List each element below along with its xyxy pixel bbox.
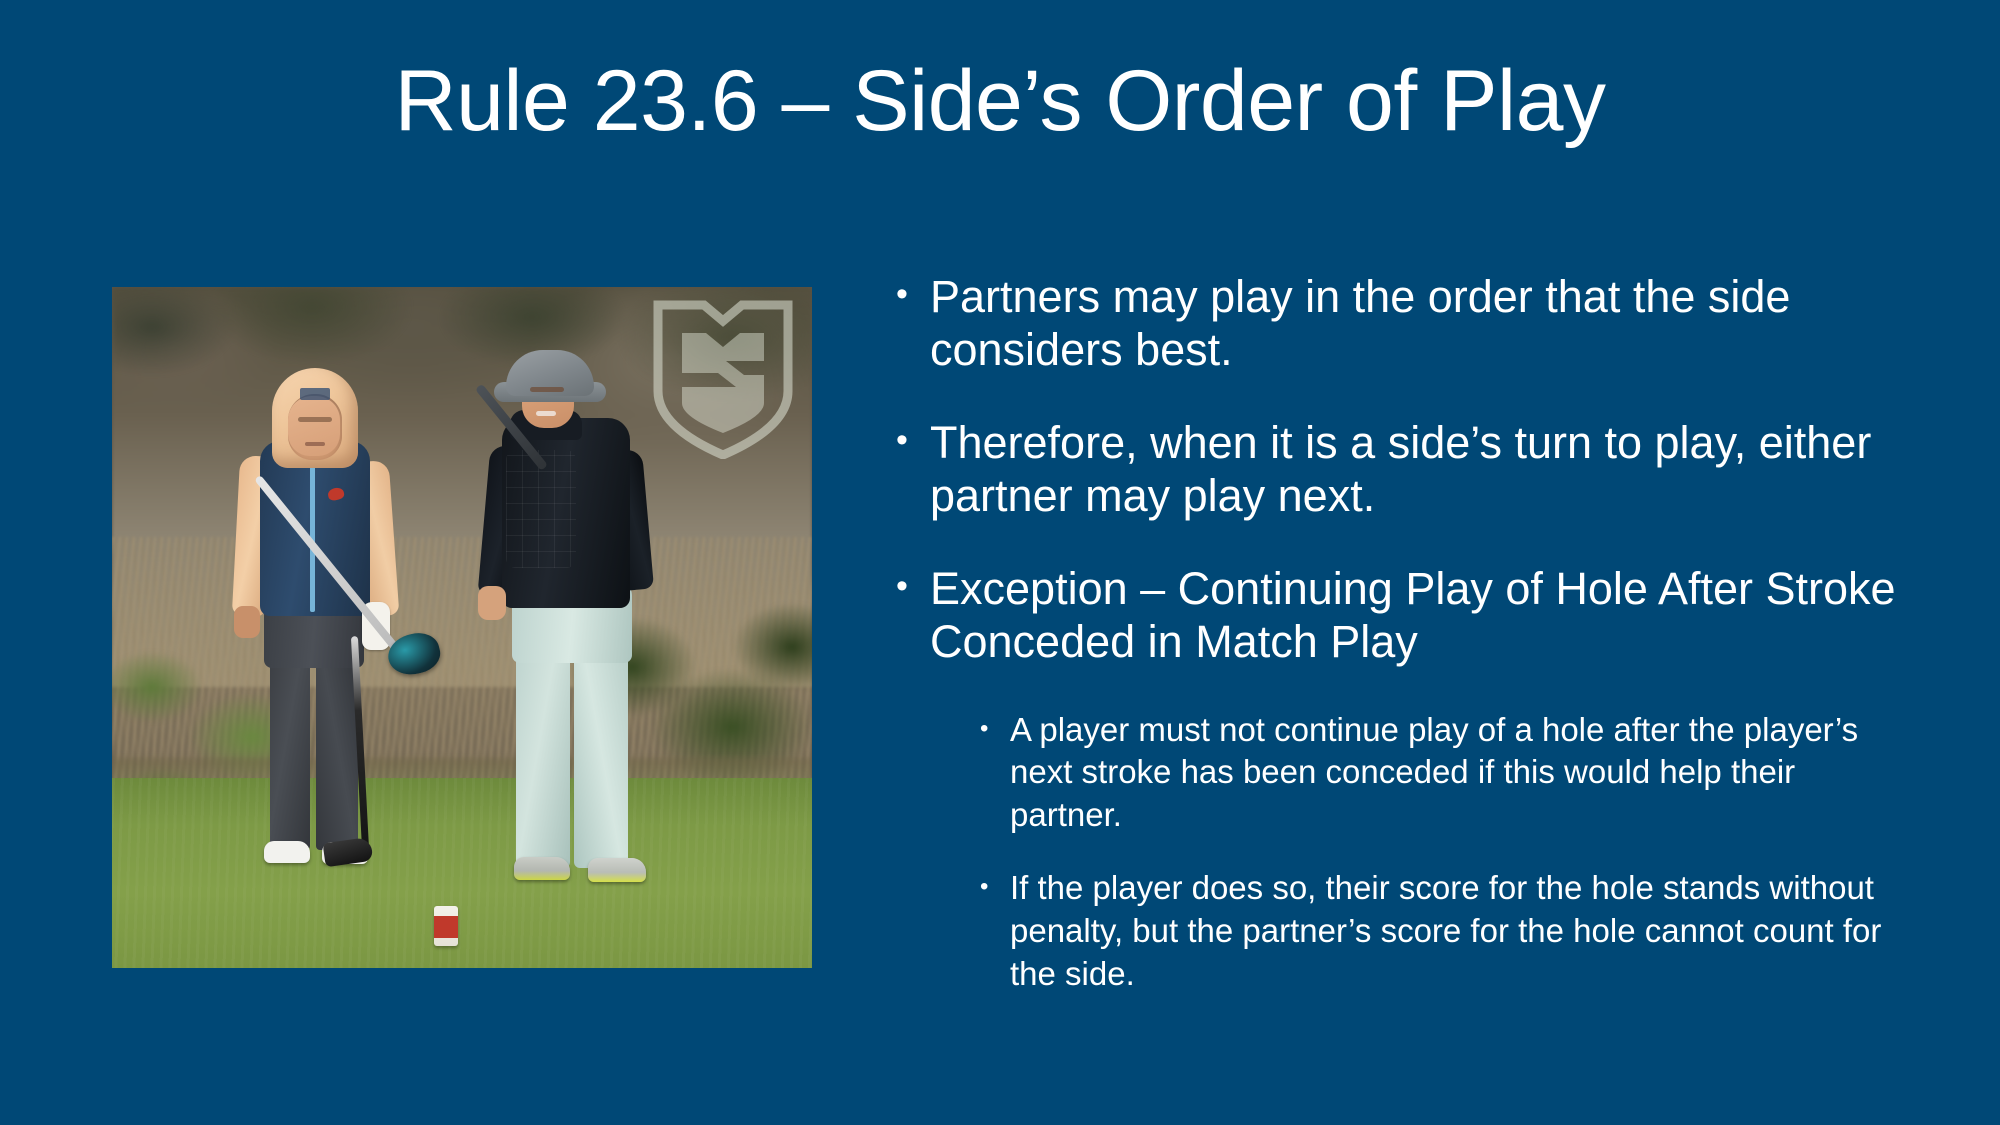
- sub-bullet-text: A player must not continue play of a hol…: [1010, 709, 1906, 838]
- golfer-right-mouth: [536, 411, 556, 416]
- bullet-marker: •: [896, 416, 930, 465]
- sub-bullet-item-2: • If the player does so, their score for…: [980, 867, 1906, 996]
- golfer-left-hand-left: [234, 606, 260, 638]
- sub-bullet-marker: •: [980, 709, 1010, 749]
- page-title: Rule 23.6 – Side’s Order of Play: [0, 56, 2000, 147]
- sub-bullet-text: If the player does so, their score for t…: [1010, 867, 1906, 996]
- golfer-right-shoe-left: [588, 858, 646, 882]
- tee-marker-band: [434, 916, 458, 938]
- sub-bullet-marker: •: [980, 867, 1010, 907]
- golfer-right-brow: [530, 387, 564, 392]
- bullet-text: Partners may play in the order that the …: [930, 270, 1906, 376]
- golfer-left-face: [288, 396, 340, 456]
- golfer-left-shoe-left: [264, 841, 310, 863]
- golfer-right-hand: [478, 586, 506, 620]
- golf-photo: [112, 287, 812, 968]
- sub-bullet-list: • A player must not continue play of a h…: [980, 709, 1906, 996]
- bullet-marker: •: [896, 562, 930, 611]
- photo-tee-grass: [112, 778, 812, 968]
- mg-shield-logo-icon: [652, 299, 794, 459]
- bullet-item-3: • Exception – Continuing Play of Hole Af…: [896, 562, 1906, 668]
- bullet-text: Exception – Continuing Play of Hole Afte…: [930, 562, 1906, 668]
- golfer-left-cap-logo: [300, 388, 330, 400]
- bullet-item-2: • Therefore, when it is a side’s turn to…: [896, 416, 1906, 522]
- golfer-right-shoe-right: [514, 857, 570, 880]
- slide: Rule 23.6 – Side’s Order of Play: [0, 0, 2000, 1125]
- sub-bullet-item-1: • A player must not continue play of a h…: [980, 709, 1906, 838]
- bullet-item-1: • Partners may play in the order that th…: [896, 270, 1906, 376]
- bullet-list: • Partners may play in the order that th…: [896, 270, 1906, 996]
- golfer-left-vest-zipper: [310, 444, 315, 612]
- golfer-left-brow: [298, 417, 332, 422]
- golfer-left-mouth: [305, 442, 325, 446]
- bullet-marker: •: [896, 270, 930, 319]
- bullet-text: Therefore, when it is a side’s turn to p…: [930, 416, 1906, 522]
- golfer-right-leg-right: [574, 628, 628, 868]
- golfer-right-leg-left: [516, 628, 570, 868]
